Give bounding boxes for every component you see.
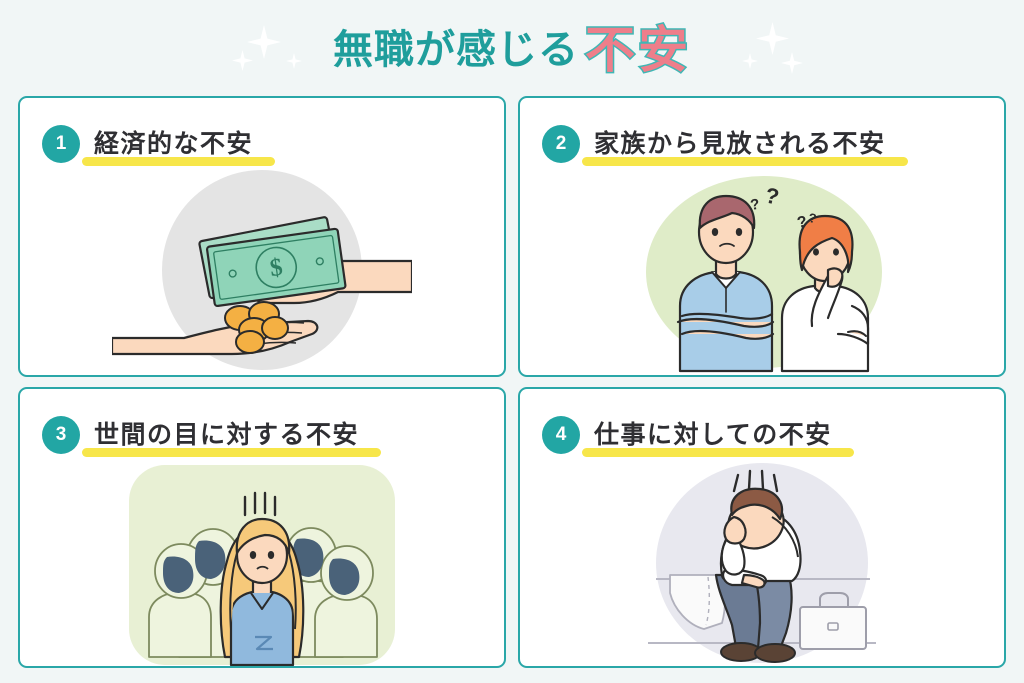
card-number-badge: 3 — [42, 416, 80, 454]
sparkle-icon — [232, 50, 253, 71]
sparkle-icon — [756, 22, 789, 55]
card-title: 世間の目に対する不安 — [94, 423, 359, 448]
title-highlight-underline — [582, 157, 908, 166]
card-illustration-depressed-man — [520, 463, 1004, 666]
card-work-anxiety[interactable]: 4 仕事に対しての不安 — [518, 387, 1006, 668]
card-number-badge: 1 — [42, 125, 80, 163]
card-grid: 1 経済的な不安 $ — [18, 96, 1006, 668]
title-highlight-underline — [582, 448, 854, 457]
card-illustration-couple-questioning: ? ? — [520, 172, 1004, 375]
sparkle-icon — [247, 25, 281, 59]
card-number-badge: 4 — [542, 416, 580, 454]
card-economic-anxiety[interactable]: 1 経済的な不安 $ — [18, 96, 506, 377]
page-title: 無職が感じる 不安 — [333, 21, 691, 71]
sparkle-icon — [781, 52, 803, 74]
card-family-abandonment-anxiety[interactable]: 2 家族から見放される不安 — [518, 96, 1006, 377]
card-header: 1 経済的な不安 — [20, 98, 504, 172]
title-highlight-underline — [82, 157, 275, 166]
card-illustration-money-hands: $ — [20, 172, 504, 375]
page-header: 無職が感じる 不安 — [0, 0, 1024, 92]
card-header: 2 家族から見放される不安 — [520, 98, 1004, 172]
title-highlight-underline — [82, 448, 381, 457]
card-public-gaze-anxiety[interactable]: 3 世間の目に対する不安 — [18, 387, 506, 668]
page-title-accent: 不安 — [585, 25, 691, 75]
card-header: 3 世間の目に対する不安 — [20, 389, 504, 463]
card-illustration-crowd-staring — [20, 463, 504, 666]
sparkle-icon — [742, 53, 758, 69]
couple-question-illustration: ? ? — [612, 166, 912, 377]
card-title: 家族から見放される不安 — [594, 132, 886, 157]
sparkle-icon — [286, 53, 302, 69]
card-title: 仕事に対しての不安 — [594, 423, 832, 448]
crowd-staring-illustration — [107, 457, 417, 668]
card-header: 4 仕事に対しての不安 — [520, 389, 1004, 463]
money-hands-illustration: $ — [112, 166, 412, 377]
card-number-badge: 2 — [542, 125, 580, 163]
card-title: 経済的な不安 — [94, 132, 253, 157]
depressed-man-illustration — [612, 457, 912, 668]
page-title-main: 無職が感じる — [333, 30, 579, 70]
